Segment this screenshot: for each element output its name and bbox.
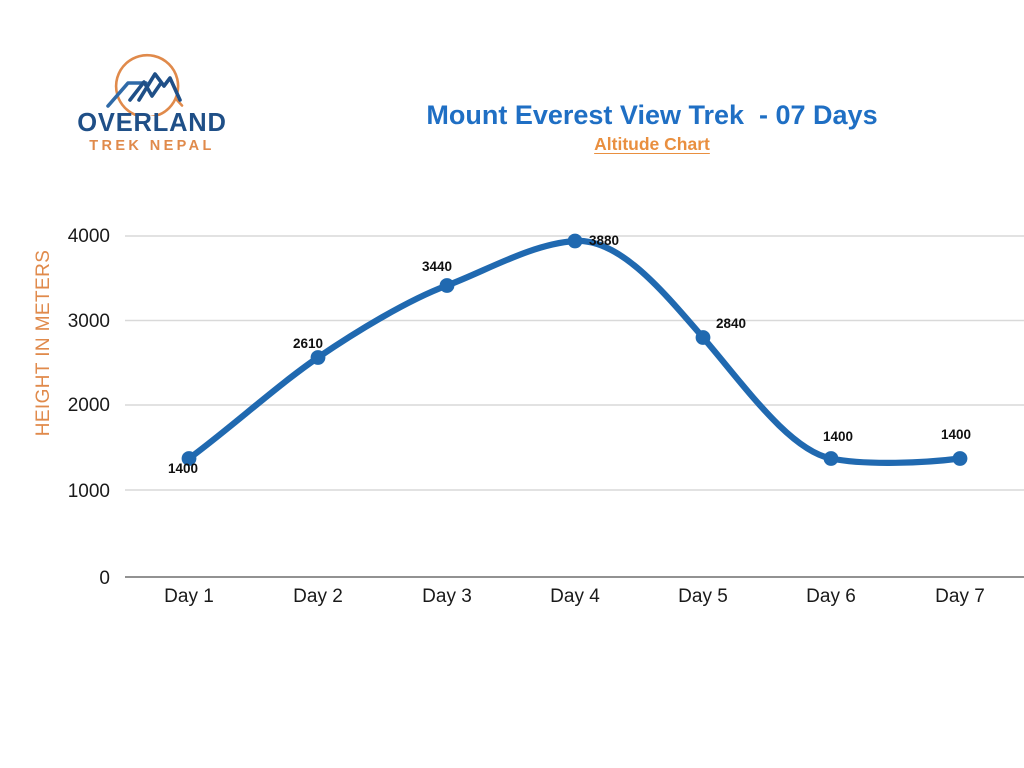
- chart-plot-area: [0, 0, 1024, 768]
- data-label-day-1: 1400: [168, 462, 198, 476]
- data-label-day-5: 2840: [716, 317, 746, 331]
- data-label-day-4: 3880: [589, 234, 619, 248]
- data-label-day-3: 3440: [422, 260, 452, 274]
- data-point-day-6: [824, 451, 839, 466]
- data-label-day-2: 2610: [293, 337, 323, 351]
- data-point-day-7: [953, 451, 968, 466]
- data-point-day-4: [568, 234, 583, 249]
- data-point-day-3: [440, 278, 455, 293]
- data-label-day-7: 1400: [941, 428, 971, 442]
- chart-gridlines: [125, 236, 1024, 490]
- data-point-day-2: [311, 350, 326, 365]
- data-point-day-5: [696, 330, 711, 345]
- data-label-day-6: 1400: [823, 430, 853, 444]
- altitude-line-chart: HEIGHT IN METERS 4000 3000 2000 1000 0 D…: [0, 0, 1024, 768]
